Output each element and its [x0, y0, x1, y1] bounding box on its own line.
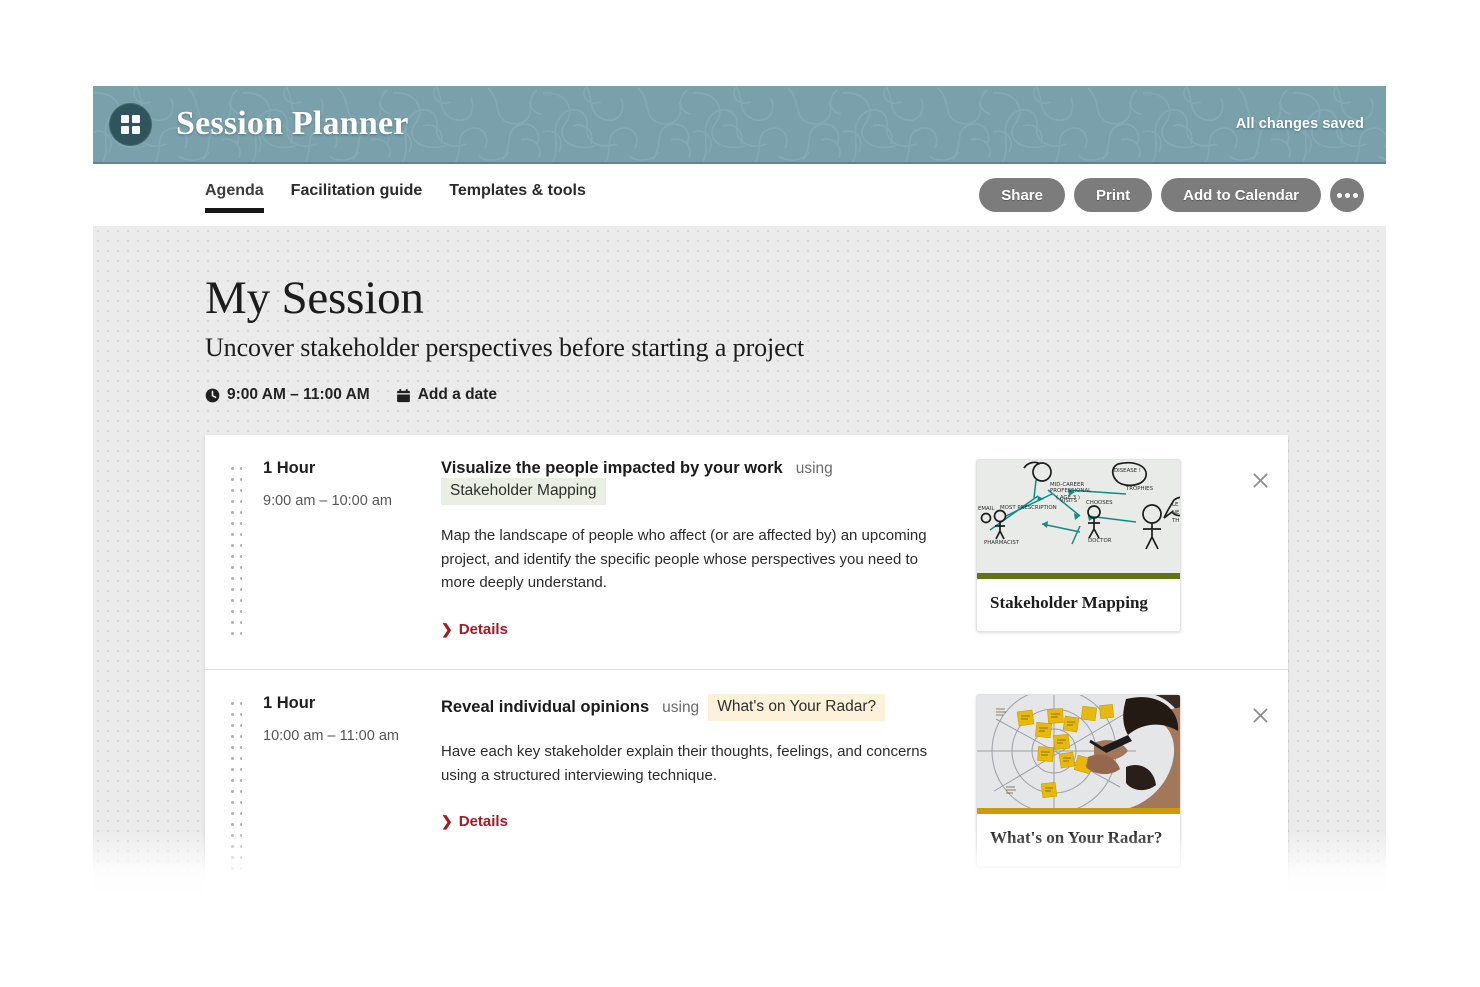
app-window: Session Planner All changes saved Agenda…	[93, 86, 1386, 900]
duration-label: 1 Hour	[263, 694, 441, 713]
page-subtitle: Uncover stakeholder perspectives before …	[205, 333, 1386, 363]
close-icon	[1252, 472, 1269, 489]
person-placing-sticky-notes-on-radar-image	[977, 695, 1180, 808]
agenda-row-body: Visualize the people impacted by your wo…	[441, 457, 976, 638]
activity-name[interactable]: Visualize the people impacted by your wo…	[441, 459, 783, 478]
agenda-row: 1 Hour 9:00 am – 10:00 am Visualize the …	[205, 435, 1288, 669]
agenda-row-time: 1 Hour 9:00 am – 10:00 am	[263, 457, 441, 509]
ellipsis-dot-icon	[1345, 193, 1350, 198]
grip-dots-icon	[227, 698, 242, 878]
method-card[interactable]: DISEASE ! MID-CAREER PROFESSIONAL ( AGE …	[976, 459, 1181, 631]
svg-text:DISEASE !: DISEASE !	[1114, 468, 1141, 474]
svg-text:PHARMACIST: PHARMACIST	[984, 540, 1020, 546]
duration-label: 1 Hour	[263, 459, 441, 478]
agenda-row: 1 Hour 10:00 am – 11:00 am Reveal indivi…	[205, 669, 1288, 900]
page-body: My Session Uncover stakeholder perspecti…	[93, 226, 1386, 900]
grid-squares-icon	[121, 115, 140, 134]
activity-headline: Reveal individual opinions using What's …	[441, 692, 950, 721]
add-to-calendar-button[interactable]: Add to Calendar	[1161, 178, 1321, 212]
clock-icon	[205, 388, 220, 403]
agenda-list: 1 Hour 9:00 am – 10:00 am Visualize the …	[205, 435, 1288, 900]
activity-description: Map the landscape of people who affect (…	[441, 524, 950, 594]
timerange-label: 9:00 am – 10:00 am	[263, 493, 441, 509]
session-time[interactable]: 9:00 AM – 11:00 AM	[205, 386, 370, 404]
remove-row-button[interactable]	[1247, 467, 1273, 493]
details-label: Details	[459, 813, 508, 830]
toolbar-actions: Share Print Add to Calendar	[979, 164, 1364, 212]
timerange-label: 10:00 am – 11:00 am	[263, 728, 441, 744]
agenda-row-close	[1232, 457, 1288, 493]
ellipsis-dot-icon	[1337, 193, 1342, 198]
tool-tag[interactable]: Stakeholder Mapping	[441, 478, 606, 505]
session-time-label: 9:00 AM – 11:00 AM	[227, 386, 370, 404]
agenda-row-body: Reveal individual opinions using What's …	[441, 692, 976, 831]
svg-text:DOCTOR: DOCTOR	[1088, 538, 1112, 544]
remove-row-button[interactable]	[1247, 702, 1273, 728]
svg-text:MOST PRESCRIPTION: MOST PRESCRIPTION	[1000, 505, 1057, 511]
svg-text:NE: NE	[1172, 510, 1180, 516]
more-options-button[interactable]	[1330, 178, 1364, 212]
add-date-button[interactable]: Add a date	[396, 386, 497, 404]
details-link[interactable]: ❯ Details	[441, 621, 508, 638]
details-label: Details	[459, 621, 508, 638]
activity-name[interactable]: Reveal individual opinions	[441, 698, 649, 717]
agenda-row-time: 1 Hour 10:00 am – 11:00 am	[263, 692, 441, 744]
toolbar: Agenda Facilitation guide Templates & to…	[93, 164, 1386, 226]
drag-handle[interactable]	[205, 457, 263, 643]
app-logo[interactable]	[109, 103, 152, 146]
svg-text:TROPHIES: TROPHIES	[1125, 486, 1154, 492]
using-label: using	[796, 460, 833, 478]
svg-text:EMAIL: EMAIL	[978, 506, 994, 512]
method-card-label: What's on Your Radar?	[977, 814, 1180, 865]
ellipsis-dot-icon	[1353, 193, 1358, 198]
chevron-right-icon: ❯	[441, 621, 453, 638]
tool-tag[interactable]: What's on Your Radar?	[708, 694, 885, 721]
grip-dots-icon	[227, 463, 242, 643]
radar-photo	[977, 695, 1180, 808]
calendar-icon	[396, 388, 411, 403]
app-header: Session Planner All changes saved	[93, 86, 1386, 164]
add-date-label: Add a date	[418, 386, 497, 404]
method-card-label: Stakeholder Mapping	[977, 579, 1180, 630]
share-button[interactable]: Share	[979, 178, 1065, 212]
print-button[interactable]: Print	[1074, 178, 1152, 212]
session-header: My Session Uncover stakeholder perspecti…	[93, 274, 1386, 404]
agenda-row-close	[1232, 692, 1288, 728]
close-icon	[1252, 707, 1269, 724]
stakeholder-map-sketch: DISEASE ! MID-CAREER PROFESSIONAL ( AGE …	[977, 460, 1180, 573]
activity-headline: Visualize the people impacted by your wo…	[441, 457, 950, 505]
svg-text:VISITS: VISITS	[1060, 498, 1078, 504]
tab-templates-and-tools[interactable]: Templates & tools	[449, 182, 586, 213]
svg-text:LE: LE	[1172, 502, 1179, 508]
tab-agenda[interactable]: Agenda	[205, 182, 264, 213]
chevron-right-icon: ❯	[441, 813, 453, 830]
agenda-row-thumb: DISEASE ! MID-CAREER PROFESSIONAL ( AGE …	[976, 457, 1232, 631]
drag-handle[interactable]	[205, 692, 263, 878]
tab-bar: Agenda Facilitation guide Templates & to…	[205, 164, 586, 213]
tab-facilitation-guide[interactable]: Facilitation guide	[291, 182, 423, 213]
svg-text:CHOOSES: CHOOSES	[1086, 500, 1113, 506]
activity-description: Have each key stakeholder explain their …	[441, 740, 950, 787]
using-label: using	[662, 699, 699, 717]
details-link[interactable]: ❯ Details	[441, 813, 508, 830]
whiteboard-stakeholder-diagram-image: DISEASE ! MID-CAREER PROFESSIONAL ( AGE …	[977, 460, 1180, 573]
app-title: Session Planner	[176, 105, 409, 143]
svg-text:PROFESSIONAL: PROFESSIONAL	[1050, 488, 1091, 494]
method-card[interactable]: What's on Your Radar?	[976, 694, 1181, 866]
page-title: My Session	[205, 274, 1386, 323]
session-meta: 9:00 AM – 11:00 AM Add a date	[205, 386, 1386, 404]
save-status: All changes saved	[1236, 116, 1364, 132]
svg-text:TH: TH	[1171, 518, 1179, 524]
agenda-row-thumb: What's on Your Radar?	[976, 692, 1232, 866]
